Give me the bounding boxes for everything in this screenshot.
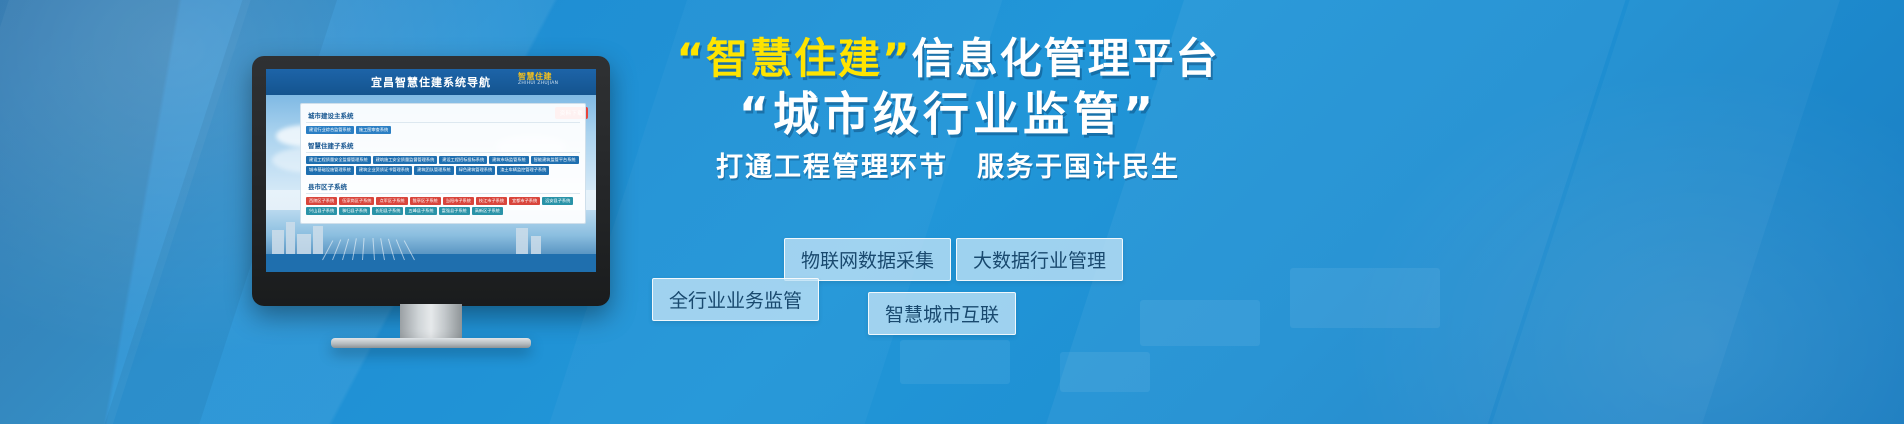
screen-nav-chip[interactable]: 长阳县子系统 <box>372 207 403 215</box>
screen-nav-chip[interactable]: 兴山县子系统 <box>306 207 337 215</box>
screen-nav-chip[interactable]: 建设工程招标投标系统 <box>439 156 487 164</box>
decor-square <box>1140 300 1260 346</box>
headline-block: “智慧住建”信息化管理平台 “城市级行业监管” 打通工程管理环节 服务于国计民生 <box>648 34 1248 185</box>
headline-line-1-rest: 信息化管理平台 <box>912 34 1220 83</box>
screen-section-items: 西陵区子系统 伍家岗区子系统 点军区子系统 猚亭区子系统 当阳市子系统 枝江市子… <box>306 197 580 215</box>
screen-nav-chip[interactable]: 点军区子系统 <box>376 197 407 205</box>
monitor-screen: 宜昌智慧住建系统导航 智慧住建 ZHIHUI ZHUJIAN 资料下载 城市建设… <box>266 69 596 272</box>
screen-nav-chip[interactable]: 宜都市子系统 <box>509 197 540 205</box>
screen-logo: 智慧住建 ZHIHUI ZHUJIAN <box>518 72 590 92</box>
feature-tag-smart-city-interconnect[interactable]: 智慧城市互联 <box>868 292 1016 335</box>
screen-bridge <box>318 236 438 260</box>
monitor-stand-base <box>331 338 531 348</box>
screen-nav-chip[interactable]: 渣土车辆监控管理子系统 <box>497 166 549 174</box>
headline-line-1: “智慧住建”信息化管理平台 <box>648 34 1248 84</box>
screen-nav-chip[interactable]: 智能建筑监管平台系统 <box>531 156 579 164</box>
imac-mockup: 宜昌智慧住建系统导航 智慧住建 ZHIHUI ZHUJIAN 资料下载 城市建设… <box>252 56 610 306</box>
screen-nav-chip[interactable]: 建设工程质量安全监督管理系统 <box>306 156 371 164</box>
screen-nav-chip[interactable]: 秭归县子系统 <box>339 207 370 215</box>
feature-tag-iot-data-collection[interactable]: 物联网数据采集 <box>784 238 951 281</box>
screen-nav-chip[interactable]: 富强县子系统 <box>439 207 470 215</box>
screen-section-title: 智慧住建子系统 <box>306 138 580 153</box>
screen-nav-chip[interactable]: 建筑施工安全质量监督管理系统 <box>373 156 438 164</box>
decor-square <box>1290 268 1440 328</box>
screen-logo-pinyin: ZHIHUI ZHUJIAN <box>518 81 590 87</box>
screen-section-items: 建设工程质量安全监督管理系统 建筑施工安全质量监督管理系统 建设工程招标投标系统… <box>306 156 580 174</box>
feature-tag-all-industry-supervision[interactable]: 全行业业务监管 <box>652 278 819 321</box>
screen-section-title: 城市建设主系统 <box>306 108 580 123</box>
decor-square <box>900 340 1010 384</box>
screen-nav-chip[interactable]: 建设行业综合监管系统 <box>306 126 354 134</box>
screen-nav-chip[interactable]: 高新区子系统 <box>472 207 503 215</box>
screen-nav-chip[interactable]: 建筑企业资质证书管理系统 <box>356 166 412 174</box>
screen-logo-primary: 智慧住建 <box>518 72 590 81</box>
screen-nav-chip[interactable]: 猚亭区子系统 <box>410 197 441 205</box>
screen-section-title: 县市区子系统 <box>306 179 580 194</box>
screen-nav-chip[interactable]: 枝江市子系统 <box>476 197 507 205</box>
screen-nav-chip[interactable]: 当阳市子系统 <box>443 197 474 205</box>
monitor-stand-neck <box>400 304 462 338</box>
screen-nav-chip[interactable]: 远安县子系统 <box>542 197 573 205</box>
screen-nav-chip[interactable]: 城市基础设施管理系统 <box>306 166 354 174</box>
background-glow-bottom-right <box>1344 64 1904 424</box>
headline-line-2: “城市级行业监管” <box>648 86 1248 144</box>
headline-highlight: “智慧住建” <box>676 34 911 83</box>
decor-square <box>1060 352 1150 392</box>
feature-tag-bigdata-industry-management[interactable]: 大数据行业管理 <box>956 238 1123 281</box>
screen-section-items: 建设行业综合监管系统 施工图审查系统 <box>306 126 580 134</box>
headline-line-3: 打通工程管理环节 服务于国计民生 <box>648 150 1248 185</box>
screen-nav-chip[interactable]: 西陵区子系统 <box>306 197 337 205</box>
screen-nav-chip[interactable]: 建筑团队管理系统 <box>414 166 454 174</box>
screen-nav-chip[interactable]: 绿色建筑管理系统 <box>456 166 496 174</box>
screen-nav-panel: 城市建设主系统 建设行业综合监管系统 施工图审查系统 智慧住建子系统 建设工程质… <box>300 103 586 224</box>
promo-banner: 宜昌智慧住建系统导航 智慧住建 ZHIHUI ZHUJIAN 资料下载 城市建设… <box>0 0 1904 424</box>
screen-nav-chip[interactable]: 建筑市场监管系统 <box>489 156 529 164</box>
screen-nav-chip[interactable]: 五峰县子系统 <box>405 207 436 215</box>
screen-nav-chip[interactable]: 施工图审查系统 <box>356 126 391 134</box>
screen-nav-chip[interactable]: 伍家岗区子系统 <box>339 197 374 205</box>
